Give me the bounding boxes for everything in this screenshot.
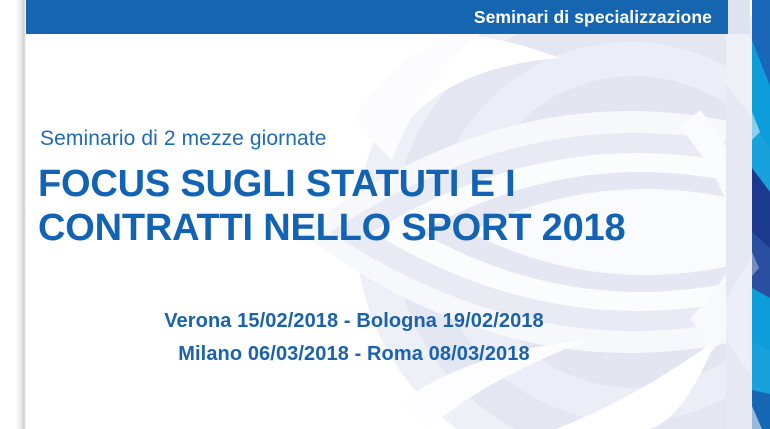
date-line-1: Verona 15/02/2018 - Bologna 19/02/2018 — [164, 305, 544, 338]
page-title: FOCUS SUGLI STATUTI E I CONTRATTI NELLO … — [38, 163, 728, 250]
page-title-line-2: CONTRATTI NELLO SPORT 2018 — [38, 207, 728, 251]
date-line-2: Milano 06/03/2018 - Roma 08/03/2018 — [164, 338, 544, 371]
seminar-poster: Seminari di specializzazione Seminario d… — [0, 0, 770, 429]
page-title-line-1: FOCUS SUGLI STATUTI E I — [38, 163, 728, 207]
kicker-text: Seminario di 2 mezze giornate — [40, 127, 327, 151]
dates-block: Verona 15/02/2018 - Bologna 19/02/2018 M… — [0, 305, 770, 371]
dates-inner: Verona 15/02/2018 - Bologna 19/02/2018 M… — [164, 305, 606, 371]
top-banner: Seminari di specializzazione — [22, 0, 728, 34]
banner-label: Seminari di specializzazione — [474, 7, 712, 28]
banner-side-notch — [728, 0, 750, 34]
